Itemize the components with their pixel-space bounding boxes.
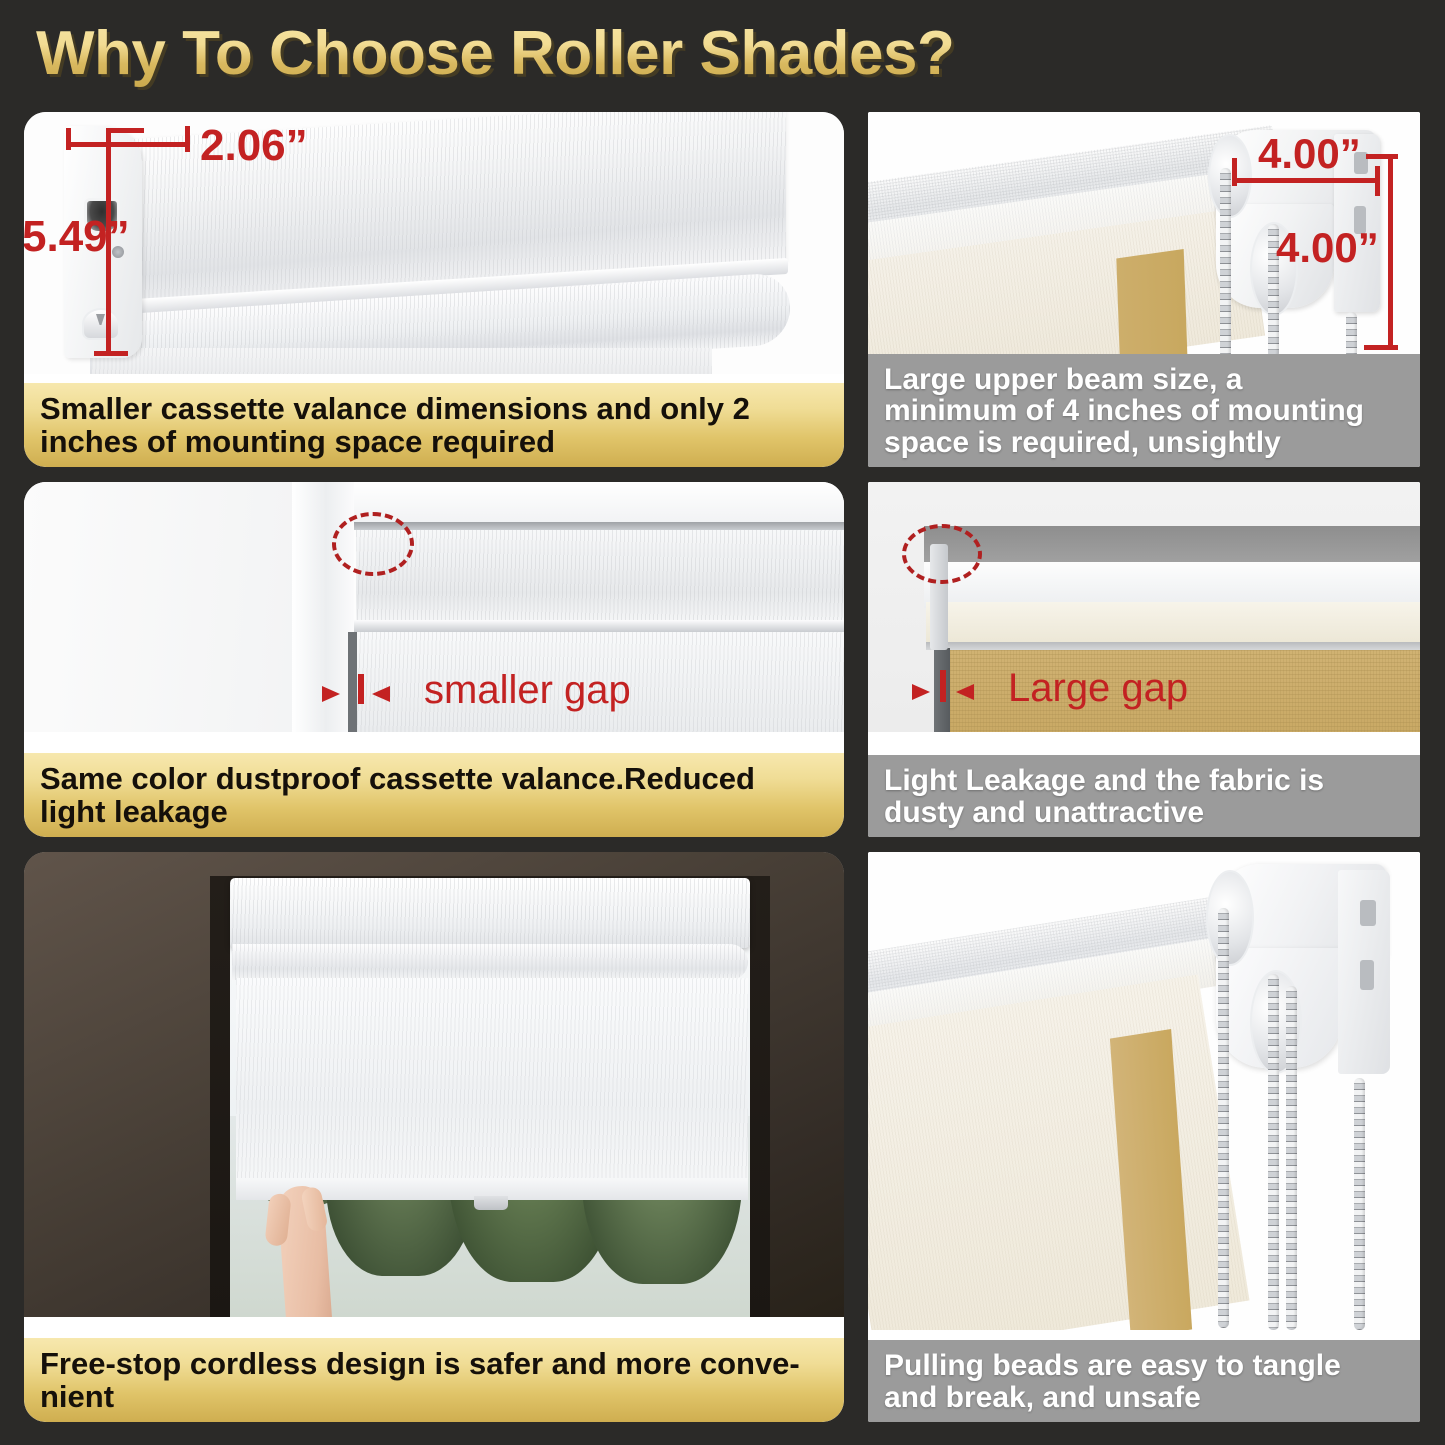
panel-pulling-beads: Pulling beads are easy to tangle and bre… bbox=[868, 852, 1420, 1422]
caption-line-2: dusty and unattractive bbox=[884, 797, 1404, 829]
caption-line-3: space is required, unsightly bbox=[884, 427, 1404, 459]
gap-arrow-right-icon bbox=[370, 680, 416, 708]
dim-width-bar bbox=[66, 142, 190, 147]
caption-line-1: Large upper beam size, a bbox=[884, 364, 1404, 396]
bead-chain-2 bbox=[1268, 974, 1279, 1330]
caption-line-1: Light Leakage and the fabric is bbox=[884, 765, 1404, 797]
panel-dustproof-cassette: smaller gap Same color dustproof cassett… bbox=[24, 482, 844, 837]
bead-bracket-slot-upper-icon bbox=[1360, 900, 1376, 926]
gap-arrow-left-icon bbox=[296, 680, 342, 708]
endcap-knob-icon bbox=[82, 308, 120, 340]
caption-cordless-design: Free-stop cordless design is safer and m… bbox=[24, 1338, 844, 1422]
beam-dim-width-bar bbox=[1232, 178, 1380, 183]
valance-fabric-shape bbox=[92, 348, 712, 374]
shade-mid-rail bbox=[354, 620, 844, 632]
gap-highlight-circle bbox=[902, 524, 982, 584]
beam-dim-width-label: 4.00” bbox=[1258, 130, 1361, 178]
bead-cream-fabric bbox=[868, 974, 1249, 1330]
panel-cassette-valance: 2.06” 5.49” Smaller cassette valance dim… bbox=[24, 112, 844, 467]
dim-height-tick-bottom bbox=[94, 351, 128, 356]
panel-large-upper-beam: 4.00” 4.00” Large upper beam size, a min… bbox=[868, 112, 1420, 467]
panel-cordless-design: Free-stop cordless design is safer and m… bbox=[24, 852, 844, 1422]
bead-chain-1 bbox=[1220, 168, 1231, 357]
gap-tick bbox=[940, 670, 946, 702]
caption-cassette-valance: Smaller cassette valance dimensions and … bbox=[24, 383, 844, 467]
page-title: Why To Choose Roller Shades? bbox=[36, 14, 1236, 94]
caption-line-1: Pulling beads are easy to tangle bbox=[884, 1350, 1404, 1382]
large-beam-photo: 4.00” 4.00” bbox=[868, 112, 1420, 357]
beam-tan-fabric-shape bbox=[1116, 249, 1187, 357]
beam-dim-height-tick-top bbox=[1366, 154, 1398, 159]
dim-width-tick-left bbox=[66, 128, 71, 150]
light-leakage-photo: Large gap bbox=[868, 482, 1420, 732]
caption-line-2: inches of mounting space required bbox=[40, 426, 828, 459]
caption-dustproof-cassette: Same color dustproof cassette valance.Re… bbox=[24, 753, 844, 837]
large-gap-label: Large gap bbox=[1008, 666, 1188, 711]
gap-tick bbox=[358, 674, 364, 704]
roller-shade-assembly bbox=[230, 878, 750, 1208]
beam-dim-width-tick-right bbox=[1375, 166, 1380, 196]
wall-surface bbox=[24, 482, 324, 732]
beam-dim-width-tick-left bbox=[1232, 158, 1237, 186]
bead-disc-upper bbox=[1206, 870, 1254, 966]
panel-light-leakage: Large gap Light Leakage and the fabric i… bbox=[868, 482, 1420, 837]
dim-height-label: 5.49” bbox=[24, 212, 130, 262]
dustproof-cassette-photo: smaller gap bbox=[24, 482, 844, 732]
bead-bracket-slot-lower-icon bbox=[1360, 960, 1374, 990]
smaller-gap-label: smaller gap bbox=[424, 668, 631, 713]
caption-line-2: nient bbox=[40, 1381, 828, 1414]
caption-light-leakage: Light Leakage and the fabric is dusty an… bbox=[868, 755, 1420, 837]
beam-dim-height-label: 4.00” bbox=[1276, 224, 1379, 272]
beam-dim-height-bar bbox=[1388, 154, 1393, 350]
dim-height-tick-top bbox=[106, 128, 144, 133]
caption-line-2: light leakage bbox=[40, 796, 828, 829]
beam-dim-height-tick-bottom bbox=[1364, 345, 1398, 350]
shade-roller bbox=[232, 944, 748, 980]
tight-fit-highlight-circle bbox=[332, 512, 414, 576]
gap-arrow-left-icon bbox=[886, 678, 932, 706]
dim-width-tick-right bbox=[185, 126, 190, 152]
bead-chain-3 bbox=[1346, 312, 1357, 357]
shade-upper-band bbox=[356, 530, 844, 620]
cordless-design-photo bbox=[24, 852, 844, 1317]
caption-line-1: Free-stop cordless design is safer and m… bbox=[40, 1348, 828, 1381]
caption-line-2: and break, and unsafe bbox=[884, 1382, 1404, 1414]
caption-large-upper-beam: Large upper beam size, a minimum of 4 in… bbox=[868, 354, 1420, 467]
bead-chain-3 bbox=[1286, 986, 1297, 1330]
small-gap-bar bbox=[348, 632, 357, 732]
bead-chain-1 bbox=[1218, 908, 1229, 1328]
leakage-cream-band bbox=[926, 602, 1420, 644]
caption-line-1: Same color dustproof cassette valance.Re… bbox=[40, 763, 828, 796]
caption-line-1: Smaller cassette valance dimensions and … bbox=[40, 393, 828, 426]
pulling-beads-photo bbox=[868, 852, 1420, 1330]
shade-pull-tab bbox=[474, 1196, 508, 1210]
dim-width-label: 2.06” bbox=[200, 121, 308, 171]
cassette-valance-photo: 2.06” 5.49” bbox=[24, 112, 844, 374]
shade-fabric bbox=[236, 978, 748, 1188]
shade-head-edge bbox=[354, 522, 844, 530]
caption-pulling-beads: Pulling beads are easy to tangle and bre… bbox=[868, 1340, 1420, 1422]
caption-line-2: minimum of 4 inches of mounting bbox=[884, 395, 1404, 427]
shade-headrail bbox=[230, 878, 750, 948]
leakage-rail bbox=[926, 642, 1420, 650]
bead-chain-4 bbox=[1354, 1078, 1365, 1330]
gap-arrow-right-icon bbox=[954, 678, 1000, 706]
